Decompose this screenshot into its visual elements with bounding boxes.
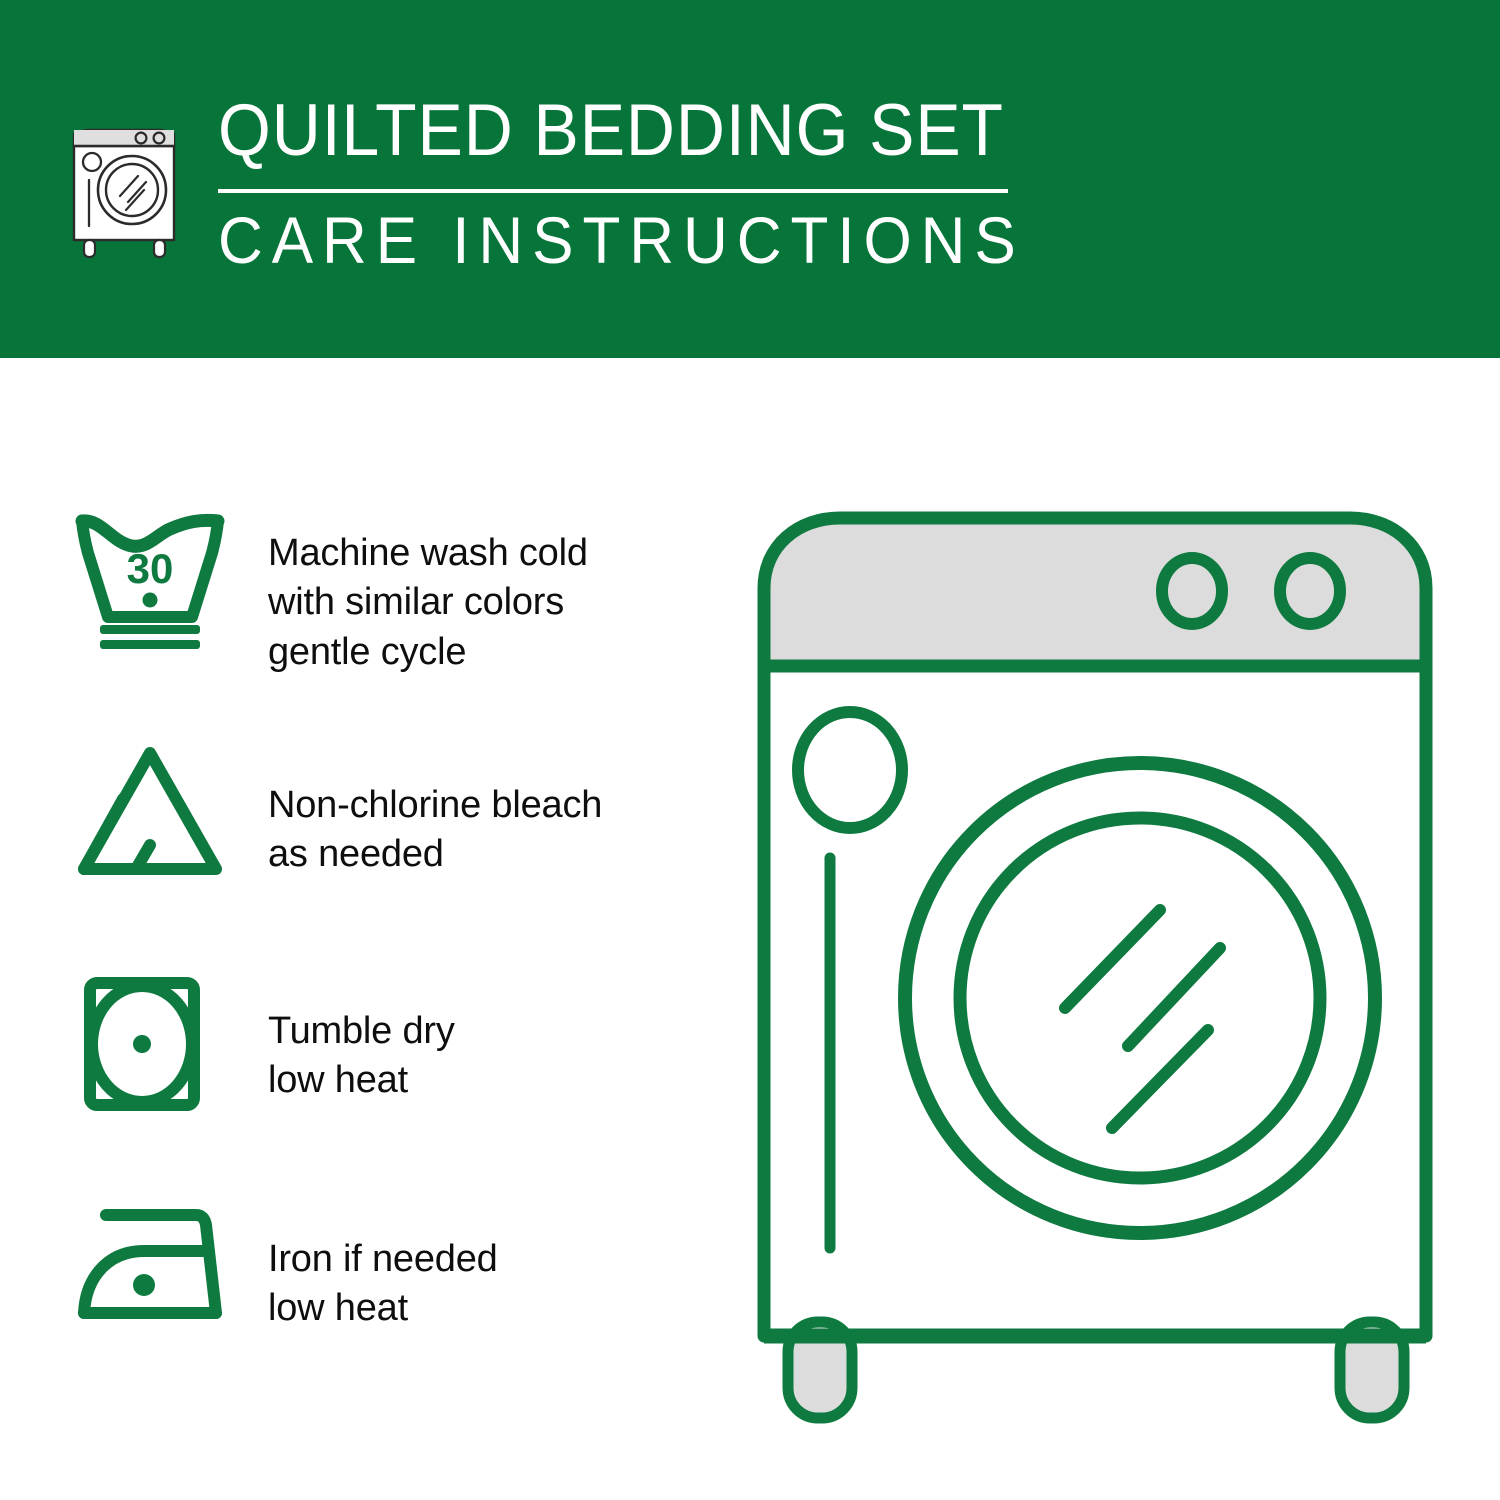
list-item: Non-chlorine bleach as needed <box>70 737 710 969</box>
header-title-group: QUILTED BEDDING SET CARE INSTRUCTIONS <box>218 96 1076 273</box>
care-text-line: Non-chlorine bleach <box>268 781 602 830</box>
knob-left <box>1162 558 1222 624</box>
page-title: QUILTED BEDDING SET <box>218 96 1016 167</box>
care-text-line: as needed <box>268 830 602 879</box>
wash-temperature-value: 30 <box>127 545 174 592</box>
care-text-line: gentle cycle <box>268 628 588 677</box>
tumble-dry-low-heat-icon <box>70 969 240 1119</box>
header-content: QUILTED BEDDING SET CARE INSTRUCTIONS <box>62 96 1076 273</box>
care-instruction-text: Machine wash cold with similar colors ge… <box>268 505 588 677</box>
title-divider <box>218 189 1008 193</box>
door-inner-ring <box>960 818 1320 1178</box>
list-item: 30 Machine wash cold with similar colors… <box>70 505 710 737</box>
care-instruction-text: Tumble dry low heat <box>268 969 455 1106</box>
knob-right <box>1280 558 1340 624</box>
page-subtitle: CARE INSTRUCTIONS <box>218 207 1025 273</box>
front-load-washing-machine-illustration <box>740 498 1450 1428</box>
non-chlorine-bleach-triangle-icon <box>70 737 240 887</box>
care-instruction-text: Non-chlorine bleach as needed <box>268 737 602 880</box>
care-instruction-text: Iron if needed low heat <box>268 1201 498 1334</box>
iron-low-heat-icon <box>70 1201 240 1331</box>
wash-tub-30-gentle-icon: 30 <box>70 505 240 655</box>
drum-slashes <box>1065 910 1220 1128</box>
care-text-line: Machine wash cold <box>268 529 588 578</box>
door-outer-ring <box>905 763 1375 1233</box>
care-text-line: low heat <box>268 1056 455 1105</box>
care-instruction-list: 30 Machine wash cold with similar colors… <box>70 505 710 1334</box>
care-text-line: Tumble dry <box>268 1007 455 1056</box>
detergent-drawer-circle <box>798 712 902 828</box>
list-item: Tumble dry low heat <box>70 969 710 1201</box>
care-text-line: low heat <box>268 1284 498 1333</box>
washing-machine-icon <box>62 104 194 264</box>
care-instructions-page: QUILTED BEDDING SET CARE INSTRUCTIONS 30 <box>0 0 1500 1500</box>
care-text-line: with similar colors <box>268 578 588 627</box>
list-item: Iron if needed low heat <box>70 1201 710 1334</box>
header-band: QUILTED BEDDING SET CARE INSTRUCTIONS <box>0 0 1500 358</box>
care-text-line: Iron if needed <box>268 1235 498 1284</box>
